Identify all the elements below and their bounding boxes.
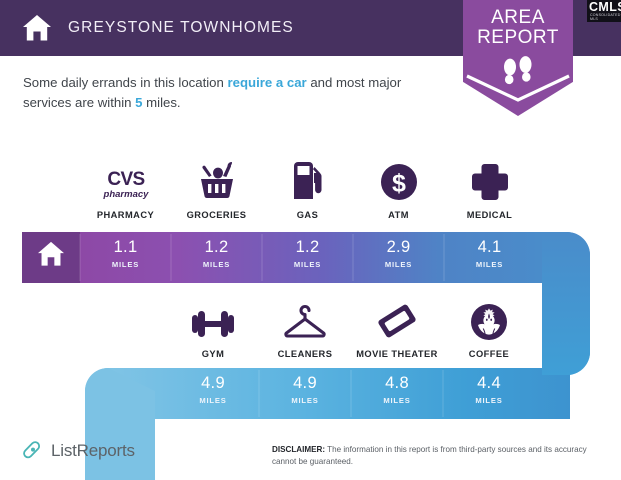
distance-cell: 1.1 MILES	[80, 232, 171, 276]
category-label: MOVIE THEATER	[356, 349, 438, 359]
svg-text:pharmacy: pharmacy	[102, 189, 149, 200]
cmls-label: CMLS	[589, 0, 621, 14]
distance-value: 2.9	[387, 239, 411, 256]
banner-line-1: AREA	[491, 8, 545, 28]
dollar-circle-icon: $	[379, 158, 419, 202]
category-atm: $ ATM	[353, 158, 444, 220]
area-report-page: GREYSTONE TOWNHOMES AREA REPORT CMLS CON…	[0, 0, 621, 480]
listreports-logo: ListReports	[22, 440, 135, 462]
cmls-sublabel: CONSOLIDATED MLS	[590, 13, 621, 21]
grocery-basket-icon	[196, 158, 238, 202]
summary-part-3: miles.	[142, 95, 180, 110]
distance-cell: 1.2 MILES	[262, 232, 353, 276]
category-label: PHARMACY	[97, 210, 154, 220]
distance-unit: MILES	[203, 260, 230, 269]
distance-unit: MILES	[475, 396, 502, 405]
summary-highlight-require-a-car: require a car	[228, 75, 307, 90]
distance-values-row-1: 1.1 MILES 1.2 MILES 1.2 MILES 2.9 MILES …	[80, 232, 535, 276]
home-cell	[22, 232, 80, 276]
disclaimer-label: DISCLAIMER:	[272, 445, 325, 454]
distance-cell: 4.9 MILES	[167, 368, 259, 412]
footprints-icon	[500, 56, 536, 88]
category-label: COFFEE	[469, 349, 509, 359]
category-movie-theater: MOVIE THEATER	[351, 297, 443, 359]
distance-cell: 4.9 MILES	[259, 368, 351, 412]
distance-unit: MILES	[112, 260, 139, 269]
distance-value: 4.1	[478, 239, 502, 256]
listreports-home-icon	[22, 440, 44, 462]
distance-cell: 4.1 MILES	[444, 232, 535, 276]
summary-part-1: Some daily errands in this location	[23, 75, 228, 90]
category-label: GAS	[297, 210, 319, 220]
clothes-hanger-icon	[281, 297, 329, 341]
page-title: GREYSTONE TOWNHOMES	[68, 19, 294, 37]
distance-unit: MILES	[199, 396, 226, 405]
summary-text: Some daily errands in this location requ…	[23, 73, 443, 113]
listreports-label: ListReports	[51, 441, 135, 461]
distance-value: 4.4	[477, 375, 501, 392]
category-label: MEDICAL	[467, 210, 513, 220]
category-medical: MEDICAL	[444, 158, 535, 220]
gas-pump-icon	[289, 158, 327, 202]
distance-unit: MILES	[294, 260, 321, 269]
distance-unit: MILES	[383, 396, 410, 405]
category-coffee: COFFEE	[443, 297, 535, 359]
distance-values-row-2: 4.9 MILES 4.9 MILES 4.8 MILES 4.4 MILES	[167, 368, 535, 412]
category-gas: GAS	[262, 158, 353, 220]
svg-text:$: $	[392, 170, 406, 198]
category-label: ATM	[388, 210, 409, 220]
distance-cell: 4.8 MILES	[351, 368, 443, 412]
distance-unit: MILES	[291, 396, 318, 405]
banner-line-2: REPORT	[477, 28, 559, 48]
distance-value: 1.1	[114, 239, 138, 256]
distance-cell: 2.9 MILES	[353, 232, 444, 276]
distance-cell: 1.2 MILES	[171, 232, 262, 276]
category-pharmacy: CVS pharmacy PHARMACY	[80, 158, 171, 220]
distance-value: 4.8	[385, 375, 409, 392]
category-icon-row-1: CVS pharmacy PHARMACY	[80, 158, 535, 220]
area-report-banner: AREA REPORT	[463, 0, 573, 116]
category-cleaners: CLEANERS	[259, 297, 351, 359]
starbucks-logo	[470, 297, 508, 341]
disclaimer: DISCLAIMER: The information in this repo…	[272, 444, 597, 467]
home-icon	[37, 241, 65, 267]
distance-unit: MILES	[385, 260, 412, 269]
distance-value: 1.2	[296, 239, 320, 256]
distance-value: 4.9	[293, 375, 317, 392]
cvs-pharmacy-logo: CVS pharmacy	[98, 158, 154, 202]
svg-text:CVS: CVS	[107, 169, 144, 190]
category-groceries: GROCERIES	[171, 158, 262, 220]
distance-value: 1.2	[205, 239, 229, 256]
cmls-badge: CMLS CONSOLIDATED MLS	[587, 0, 621, 22]
distance-value: 4.9	[201, 375, 225, 392]
movie-ticket-icon	[375, 297, 419, 341]
medical-cross-icon	[470, 158, 510, 202]
distance-cell: 4.4 MILES	[443, 368, 535, 412]
category-label: CLEANERS	[278, 349, 333, 359]
category-label: GYM	[202, 349, 225, 359]
dumbbell-icon	[188, 297, 238, 341]
category-icon-row-2: GYM CLEANERS	[167, 297, 535, 359]
distance-unit: MILES	[476, 260, 503, 269]
category-gym: GYM	[167, 297, 259, 359]
home-icon	[22, 14, 52, 42]
category-label: GROCERIES	[187, 210, 247, 220]
